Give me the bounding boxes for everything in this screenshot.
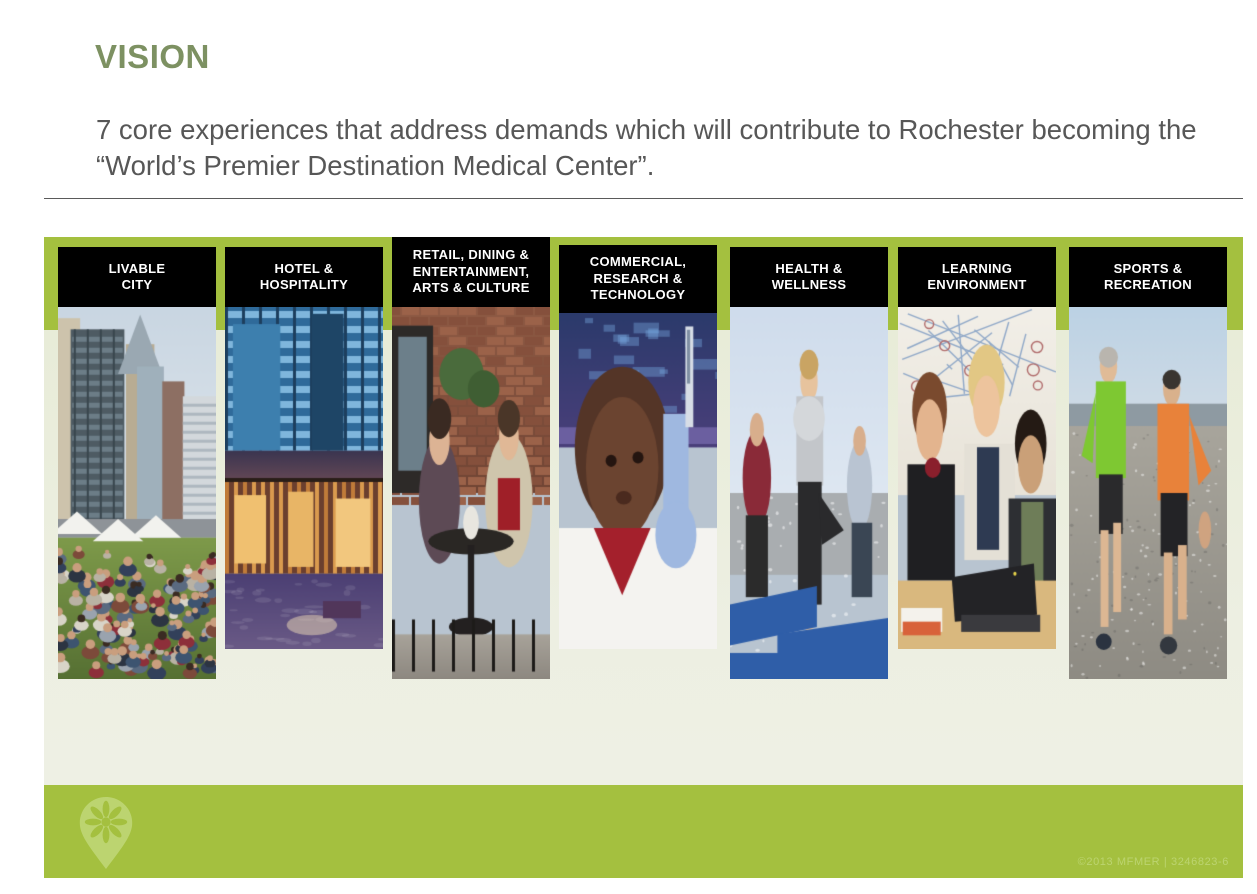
photo-canvas xyxy=(225,307,383,649)
vision-panel: LIVABLECITYHOTEL &HOSPITALITYRETAIL, DIN… xyxy=(44,237,1243,785)
mayo-clinic-pin-icon xyxy=(71,793,141,871)
column-header-livable-city: LIVABLECITY xyxy=(58,247,216,307)
column-header-learning-environment: LEARNINGENVIRONMENT xyxy=(898,247,1056,307)
column-header-sports-recreation: SPORTS &RECREATION xyxy=(1069,247,1227,307)
photo-canvas xyxy=(392,307,550,679)
column-photo-city-skyline-park-crowd xyxy=(58,307,216,679)
column-header-label: HOTEL &HOSPITALITY xyxy=(229,261,379,294)
photo-canvas xyxy=(898,307,1056,649)
column-photo-couple-at-cafe-table xyxy=(392,307,550,679)
column-photo-two-runners-jogging xyxy=(1069,307,1227,679)
column-header-label: LEARNINGENVIRONMENT xyxy=(902,261,1052,294)
page-title: VISION xyxy=(95,38,210,76)
title-divider xyxy=(44,198,1243,199)
experience-columns: LIVABLECITYHOTEL &HOSPITALITYRETAIL, DIN… xyxy=(44,237,1243,785)
column-photo-students-with-laptop xyxy=(898,307,1056,649)
column-photo-lab-researcher-pipette xyxy=(559,313,717,649)
column-header-label: RETAIL, DINING &ENTERTAINMENT,ARTS & CUL… xyxy=(396,247,546,297)
column-header-retail-dining-entertainment-arts-culture: RETAIL, DINING &ENTERTAINMENT,ARTS & CUL… xyxy=(392,237,550,307)
photo-canvas xyxy=(730,307,888,679)
column-photo-outdoor-yoga-class xyxy=(730,307,888,679)
column-header-hotel-hospitality: HOTEL &HOSPITALITY xyxy=(225,247,383,307)
column-header-health-wellness: HEALTH &WELLNESS xyxy=(730,247,888,307)
slide-subtitle: 7 core experiences that address demands … xyxy=(96,112,1221,184)
column-photo-hotel-building-evening xyxy=(225,307,383,649)
photo-canvas xyxy=(58,307,216,679)
column-header-label: SPORTS &RECREATION xyxy=(1073,261,1223,294)
photo-canvas xyxy=(1069,307,1227,679)
photo-canvas xyxy=(559,313,717,649)
copyright-text: ©2013 MFMER | 3246823-6 xyxy=(1078,856,1229,868)
footer-bar: ©2013 MFMER | 3246823-6 xyxy=(44,785,1243,878)
column-header-label: LIVABLECITY xyxy=(62,261,212,294)
column-header-commercial-research-technology: COMMERCIAL,RESEARCH &TECHNOLOGY xyxy=(559,245,717,313)
column-header-label: HEALTH &WELLNESS xyxy=(734,261,884,294)
column-header-label: COMMERCIAL,RESEARCH &TECHNOLOGY xyxy=(563,254,713,304)
